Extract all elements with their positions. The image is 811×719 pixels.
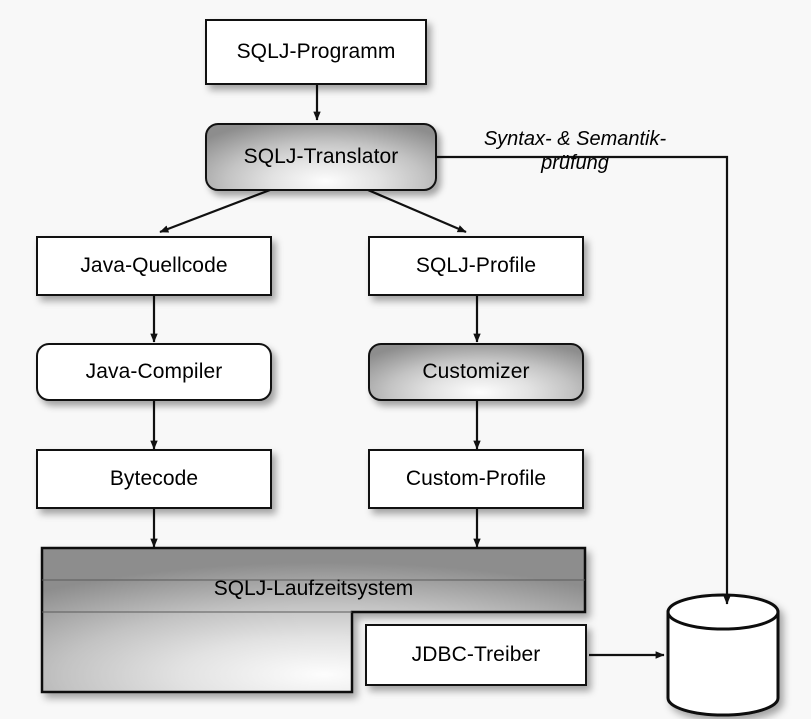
node-java-quellcode-label: Java-Quellcode xyxy=(80,254,227,278)
diagram-canvas: SQLJ-Programm SQLJ-Translator Syntax- & … xyxy=(0,0,811,719)
node-sqlj-translator-label: SQLJ-Translator xyxy=(244,145,399,169)
annotation-line-1: Syntax- & Semantik- xyxy=(455,127,695,151)
edge-translator-to-sqljprofile xyxy=(368,190,466,232)
annotation-syntax-semantik-pruefung: Syntax- & Semantik- prüfung xyxy=(455,127,695,176)
node-custom-profile[interactable]: Custom-Profile xyxy=(368,449,584,509)
node-sqlj-programm-label: SQLJ-Programm xyxy=(237,40,396,64)
node-sqlj-translator[interactable]: SQLJ-Translator xyxy=(205,123,437,191)
node-bytecode-label: Bytecode xyxy=(110,467,198,491)
node-customizer[interactable]: Customizer xyxy=(368,343,584,401)
node-jdbc-treiber[interactable]: JDBC-Treiber xyxy=(365,624,587,686)
node-java-compiler[interactable]: Java-Compiler xyxy=(36,343,272,401)
node-bytecode[interactable]: Bytecode xyxy=(36,449,272,509)
node-customizer-label: Customizer xyxy=(422,360,529,384)
edge-translator-to-quellcode xyxy=(160,190,270,232)
node-sqlj-programm[interactable]: SQLJ-Programm xyxy=(205,19,427,85)
node-java-compiler-label: Java-Compiler xyxy=(86,360,223,384)
annotation-line-2: prüfung xyxy=(455,151,695,175)
node-custom-profile-label: Custom-Profile xyxy=(406,467,546,491)
node-sqlj-profile[interactable]: SQLJ-Profile xyxy=(368,236,584,296)
database-cylinder[interactable] xyxy=(668,595,778,715)
node-jdbc-treiber-label: JDBC-Treiber xyxy=(412,643,541,667)
node-sqlj-profile-label: SQLJ-Profile xyxy=(416,254,536,278)
node-java-quellcode[interactable]: Java-Quellcode xyxy=(36,236,272,296)
